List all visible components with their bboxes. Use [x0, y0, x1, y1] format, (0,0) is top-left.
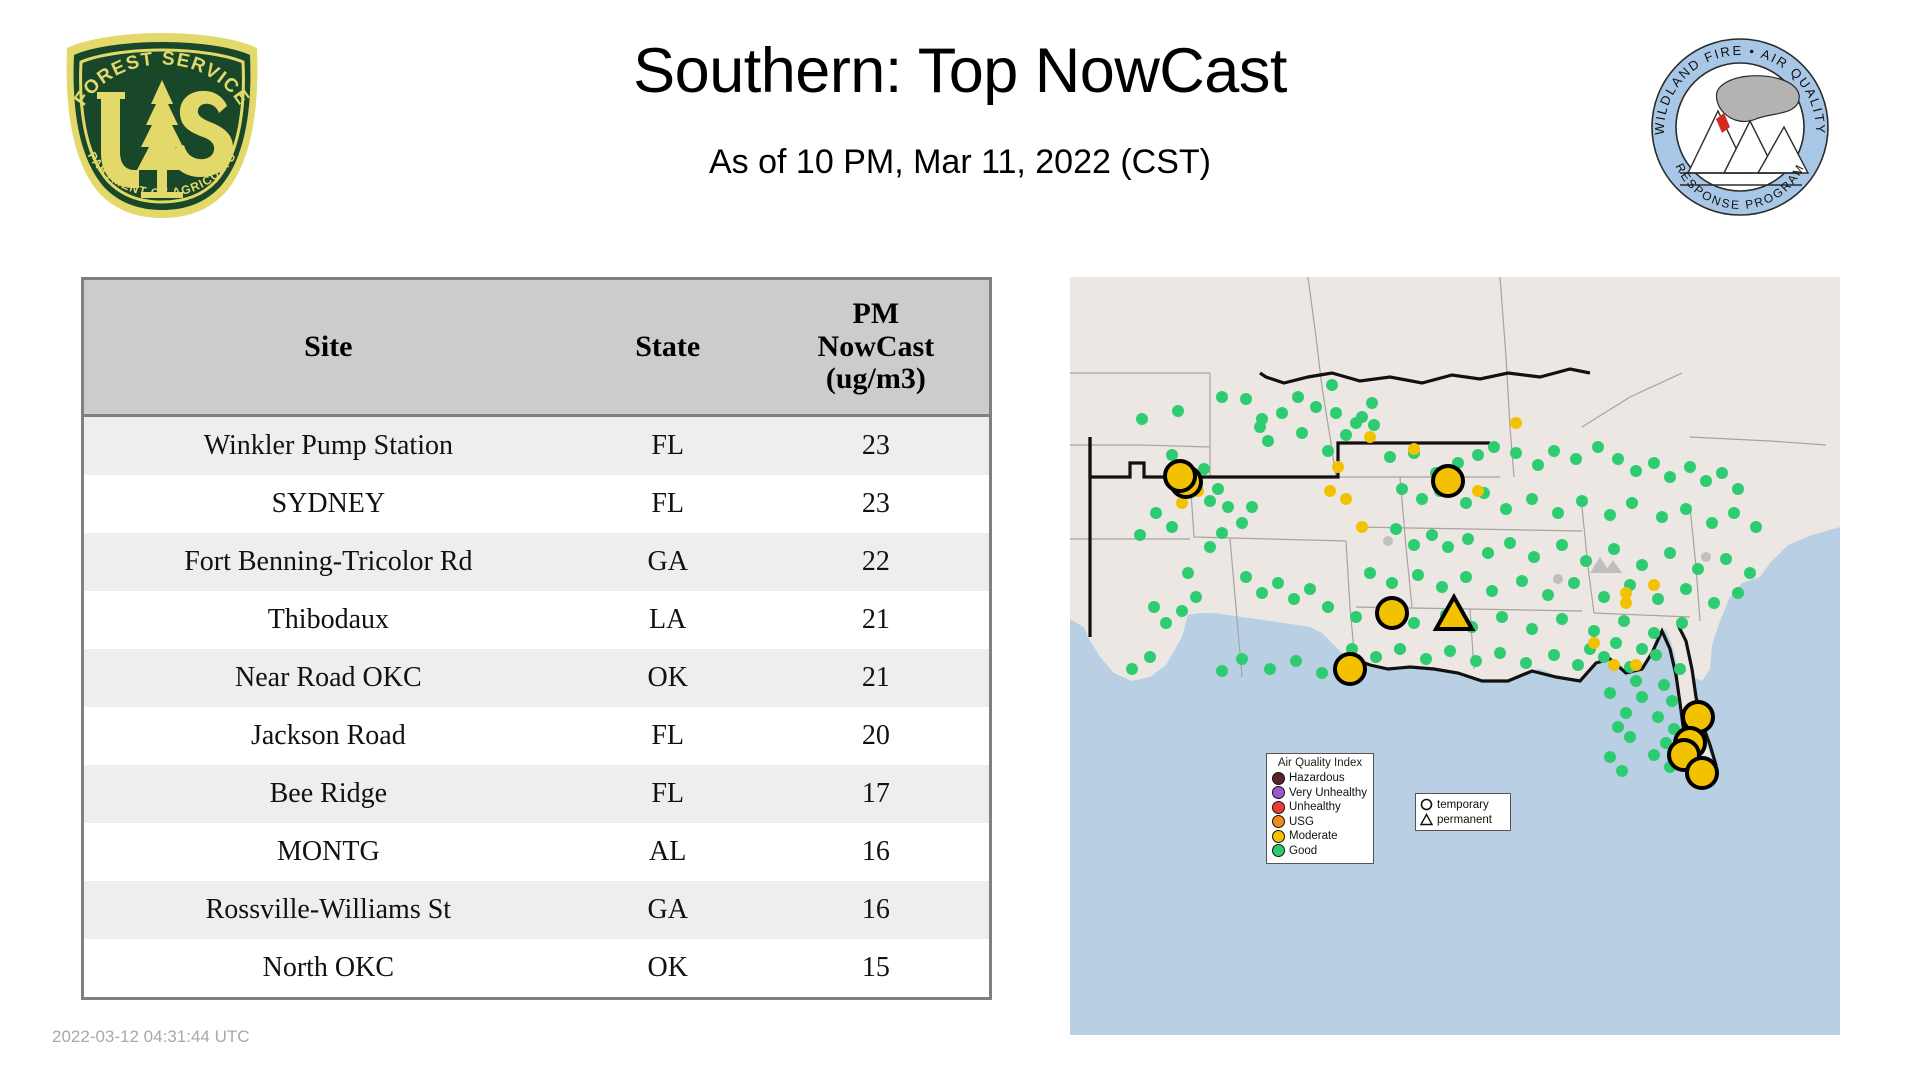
table-row: ThibodauxLA21: [84, 591, 989, 649]
table-row: Winkler Pump StationFL23: [84, 416, 989, 476]
table-row: Jackson RoadFL20: [84, 707, 989, 765]
legend-row-permanent: permanent: [1420, 812, 1506, 827]
aqi-legend-row: Very Unhealthy: [1272, 786, 1368, 801]
legend-row-temporary: temporary: [1420, 797, 1506, 812]
aqi-legend-swatch-icon: [1272, 801, 1285, 814]
aqi-legend-title: Air Quality Index: [1272, 757, 1368, 769]
cell-state: FL: [573, 475, 763, 533]
aqi-legend-label: USG: [1289, 816, 1314, 828]
aqi-legend-label: Moderate: [1289, 830, 1338, 842]
generated-timestamp: 2022-03-12 04:31:44 UTC: [52, 1027, 250, 1047]
nowcast-table-container: Site State PM NowCast (ug/m3) Winkler Pu…: [81, 277, 992, 1000]
aqi-legend-swatch-icon: [1272, 815, 1285, 828]
temporary-circle-icon: [1420, 798, 1433, 811]
marker-bee-ridge: [1687, 758, 1717, 788]
cell-site: Jackson Road: [84, 707, 573, 765]
aqi-legend-swatch-icon: [1272, 772, 1285, 785]
aqi-legend-row: USG: [1272, 815, 1368, 830]
marker-rossville-williams-st: [1433, 466, 1463, 496]
cell-site: MONTG: [84, 823, 573, 881]
legend-label-permanent: permanent: [1437, 814, 1492, 826]
table-row: Bee RidgeFL17: [84, 765, 989, 823]
aqi-legend: Air Quality Index HazardousVery Unhealth…: [1266, 753, 1374, 864]
cell-state: GA: [573, 533, 763, 591]
table-header-row: Site State PM NowCast (ug/m3): [84, 280, 989, 416]
cell-state: OK: [573, 939, 763, 997]
cell-value: 16: [763, 823, 989, 881]
column-header-line-nowcast: NowCast: [763, 331, 989, 363]
aqi-legend-row: Moderate: [1272, 829, 1368, 844]
table-body: Winkler Pump StationFL23SYDNEYFL23Fort B…: [84, 416, 989, 998]
header: FOREST SERVICE DEPARTMENT OF AGRICULTURE…: [0, 0, 1920, 270]
aqi-legend-label: Unhealthy: [1289, 801, 1341, 813]
monitor-type-legend: temporary permanent: [1415, 793, 1511, 831]
cell-site: Fort Benning-Tricolor Rd: [84, 533, 573, 591]
column-header-line-pm: PM: [763, 298, 989, 330]
aqi-legend-swatch-icon: [1272, 844, 1285, 857]
column-header-pm-nowcast: PM NowCast (ug/m3): [763, 280, 989, 416]
cell-value: 16: [763, 881, 989, 939]
cell-state: GA: [573, 881, 763, 939]
cell-state: FL: [573, 416, 763, 476]
cell-value: 21: [763, 591, 989, 649]
cell-value: 17: [763, 765, 989, 823]
column-header-line-units: (ug/m3): [763, 363, 989, 395]
page-title: Southern: Top NowCast: [420, 40, 1500, 103]
cell-state: FL: [573, 707, 763, 765]
cell-site: North OKC: [84, 939, 573, 997]
aqi-legend-rows: HazardousVery UnhealthyUnhealthyUSGModer…: [1272, 771, 1368, 858]
table-row: North OKCOK15: [84, 939, 989, 997]
usda-forest-service-shield-icon: FOREST SERVICE DEPARTMENT OF AGRICULTURE: [55, 28, 270, 223]
air-quality-monitor-map[interactable]: Air Quality Index HazardousVery Unhealth…: [1070, 277, 1840, 1035]
page-subtitle: As of 10 PM, Mar 11, 2022 (CST): [420, 143, 1500, 182]
wildland-fire-air-quality-seal-icon: WILDLAND FIRE • AIR QUALITY RESPONSE PRO…: [1640, 35, 1840, 220]
cell-site: Bee Ridge: [84, 765, 573, 823]
aqi-legend-label: Good: [1289, 845, 1317, 857]
permanent-triangle-icon: [1420, 813, 1433, 826]
cell-site: Near Road OKC: [84, 649, 573, 707]
table-row: MONTGAL16: [84, 823, 989, 881]
nowcast-table: Site State PM NowCast (ug/m3) Winkler Pu…: [84, 280, 989, 997]
aqi-legend-row: Hazardous: [1272, 771, 1368, 786]
cell-state: LA: [573, 591, 763, 649]
table-row: Fort Benning-Tricolor RdGA22: [84, 533, 989, 591]
cell-site: Rossville-Williams St: [84, 881, 573, 939]
column-header-state: State: [573, 280, 763, 416]
marker-north-okc: [1165, 461, 1195, 491]
aqi-legend-swatch-icon: [1272, 830, 1285, 843]
cell-value: 15: [763, 939, 989, 997]
aqi-legend-row: Good: [1272, 844, 1368, 859]
aqi-legend-label: Very Unhealthy: [1289, 787, 1367, 799]
cell-site: Thibodaux: [84, 591, 573, 649]
aqi-legend-swatch-icon: [1272, 786, 1285, 799]
cell-state: AL: [573, 823, 763, 881]
title-block: Southern: Top NowCast As of 10 PM, Mar 1…: [420, 40, 1500, 182]
cell-value: 21: [763, 649, 989, 707]
cell-value: 23: [763, 416, 989, 476]
cell-value: 23: [763, 475, 989, 533]
marker-montg: [1377, 598, 1407, 628]
map-graphic: [1070, 277, 1840, 1035]
aqi-legend-row: Unhealthy: [1272, 800, 1368, 815]
cell-state: OK: [573, 649, 763, 707]
table-row: SYDNEYFL23: [84, 475, 989, 533]
aqi-legend-label: Hazardous: [1289, 772, 1345, 784]
marker-thibodaux: [1335, 654, 1365, 684]
cell-site: Winkler Pump Station: [84, 416, 573, 476]
table-header: Site State PM NowCast (ug/m3): [84, 280, 989, 416]
table-row: Near Road OKCOK21: [84, 649, 989, 707]
cell-state: FL: [573, 765, 763, 823]
cell-site: SYDNEY: [84, 475, 573, 533]
legend-label-temporary: temporary: [1437, 799, 1489, 811]
cell-value: 22: [763, 533, 989, 591]
table-row: Rossville-Williams StGA16: [84, 881, 989, 939]
column-header-site: Site: [84, 280, 573, 416]
cell-value: 20: [763, 707, 989, 765]
